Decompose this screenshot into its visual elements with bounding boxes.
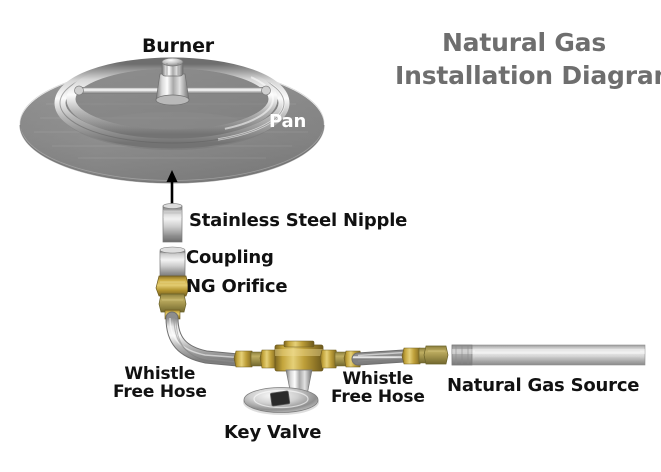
label-hose-left-line-2: Free Hose [113, 382, 207, 402]
whistle-free-hose-right-component [358, 346, 448, 364]
label-burner: Burner [142, 36, 214, 57]
label-hose-left-line-1: Whistle [124, 364, 195, 384]
diagram-title: Natural GasInstallation Diagram [395, 26, 653, 92]
title-line-2: Installation Diagram [395, 61, 661, 90]
label-key-valve: Key Valve [224, 423, 321, 442]
natural-gas-source-pipe-component [452, 345, 645, 365]
label-stainless-steel-nipple: Stainless Steel Nipple [189, 211, 407, 230]
burner-ring-component [59, 58, 285, 150]
label-hose-right-line-2: Free Hose [331, 387, 425, 407]
diagram-canvas: Natural GasInstallation Diagram Burner P… [0, 0, 661, 472]
label-whistle-free-hose-right: WhistleFree Hose [331, 370, 425, 407]
label-hose-right-line-1: Whistle [342, 369, 413, 389]
stainless-steel-nipple-component [163, 203, 182, 242]
label-ng-orifice: NG Orifice [186, 277, 287, 296]
label-pan: Pan [269, 112, 306, 131]
coupling-component [160, 247, 185, 278]
label-natural-gas-source: Natural Gas Source [447, 376, 639, 395]
label-coupling: Coupling [186, 248, 274, 267]
whistle-free-hose-left-component [170, 318, 238, 364]
label-whistle-free-hose-left: WhistleFree Hose [113, 365, 207, 402]
title-line-1: Natural Gas [442, 28, 606, 57]
